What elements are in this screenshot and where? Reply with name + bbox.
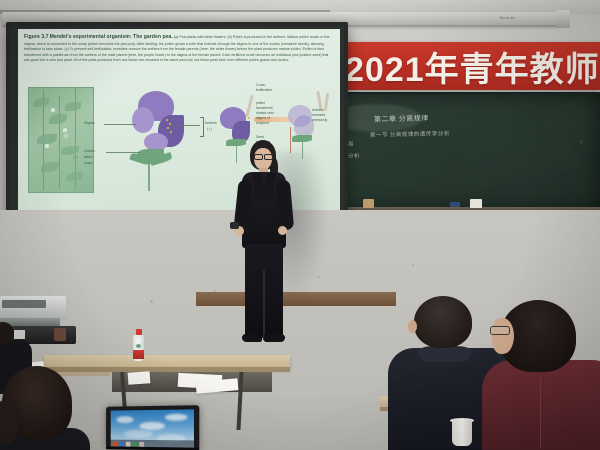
panel-a-pea-plant-photo: [28, 87, 94, 193]
screen-rail-cap: [556, 10, 570, 28]
chalk-line-0: 第二章 分离规律: [374, 113, 429, 124]
rail-logo-text: Bullnet: [500, 15, 515, 20]
presenter-arm-right: [276, 179, 294, 230]
paper-cup: [452, 420, 472, 446]
annotation-stigma-of: stigma of: [256, 116, 270, 121]
chalk-box-1: [363, 199, 374, 208]
annotation-removed: removed: [312, 113, 325, 118]
blackboard-eraser: [450, 202, 460, 207]
annotation-previously: previously: [312, 118, 327, 123]
chalk-box-2: [470, 199, 482, 208]
cart-slot: [2, 300, 46, 308]
annotation-anthers-male: (♂): [207, 127, 212, 132]
annotation-recipient: recipient: [256, 121, 269, 126]
paper-sheet-1: [128, 371, 151, 385]
presenter-shoe-right: [264, 334, 285, 342]
chalk-line-1: 第一节 分离规律的遗传学分析: [370, 129, 450, 139]
glasses-icon: [490, 326, 510, 335]
figure-number: Figure 3.7: [24, 34, 49, 40]
classroom-photo: 院2021年青年教师教 第二章 分离规律 第一节 分离规律的遗传学分析 一、性状…: [0, 0, 600, 450]
laptop-hinge: [106, 446, 199, 450]
presenter: [228, 140, 302, 390]
annotation-cross: Cross-: [256, 83, 266, 88]
annotation-within: within: [84, 155, 93, 160]
slide-caption: Figure 3.7 Mendel's experimental organis…: [24, 34, 334, 64]
glasses-icon: [254, 154, 272, 158]
annotation-anthers: Anthers: [205, 121, 217, 126]
annotation-fertilization: fertilization: [256, 88, 272, 93]
annotation-seed: Seed: [256, 135, 264, 140]
annotation-dusted: dusted onto: [256, 111, 274, 116]
annotation-pollen: pollen: [256, 101, 265, 106]
audience-member-front-left: [0, 366, 90, 450]
annotation-transferred: transferred,: [256, 106, 273, 111]
trouser-seam: [263, 270, 265, 340]
panel-b-flower-anatomy: Stigma Anthers (♂) Ovules (♀) within ova…: [114, 87, 206, 199]
annotation-stigma: Stigma: [84, 121, 95, 126]
figure-title: Mendel's experimental organism: The gard…: [50, 34, 173, 40]
presenter-laptop[interactable]: [106, 405, 199, 450]
blackboard: 第二章 分离规律 第一节 分离规律的遗传学分析 一、性状分离 二、遗传学分析 ?: [312, 92, 600, 212]
annotation-ovules: Ovules: [84, 149, 95, 154]
annotation-anthers2: Anthers: [312, 108, 324, 113]
camera-lens-icon: [54, 328, 66, 341]
presenter-hand-right: [278, 226, 287, 235]
annotation-female-symbol: (♀): [73, 155, 78, 160]
audience-member-maroon-jacket: [492, 300, 600, 450]
presenter-shoe-left: [242, 334, 262, 342]
presentation-clicker: [230, 222, 239, 229]
annotation-ovary: ovary: [84, 161, 92, 166]
event-banner: 院2021年青年教师教: [308, 42, 600, 90]
water-bottle: [133, 329, 144, 361]
banner-text: 院2021年青年教师教: [310, 42, 600, 90]
laptop-screen[interactable]: [111, 409, 194, 448]
